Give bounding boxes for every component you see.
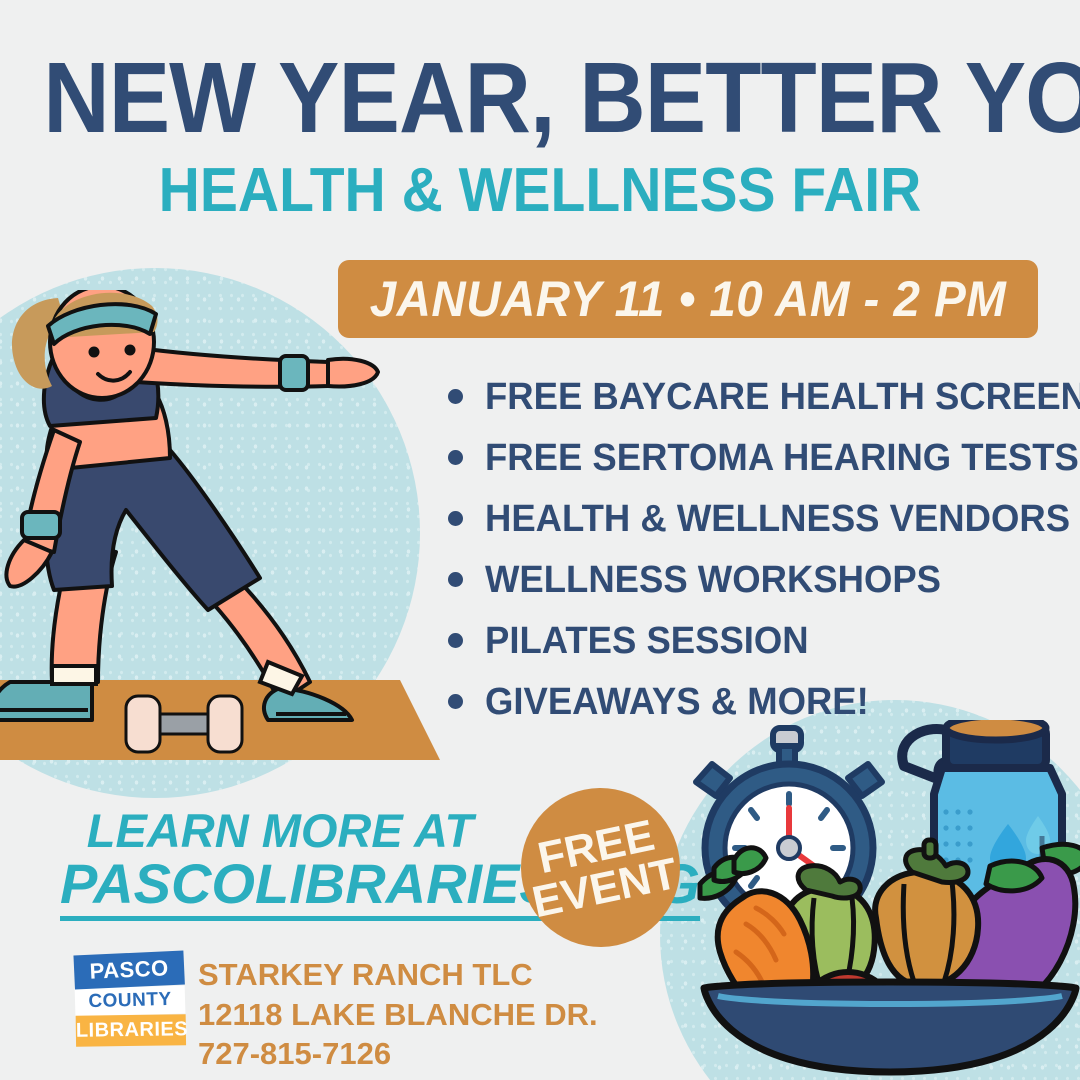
bullet-dot-icon <box>448 694 463 709</box>
list-item: PILATES SESSION <box>448 610 1068 671</box>
pasco-county-libraries-logo: PASCO COUNTY LIBRARIES <box>74 951 187 1047</box>
wristband-left <box>22 512 60 538</box>
list-item-label: FREE BAYCARE HEALTH SCREENINGS <box>485 378 1080 416</box>
venue-name: STARKEY RANCH TLC <box>198 955 598 995</box>
logo-line-pasco: PASCO <box>73 951 184 990</box>
date-time-banner: JANUARY 11 • 10 AM - 2 PM <box>338 260 1038 338</box>
list-item: FREE BAYCARE HEALTH SCREENINGS <box>448 366 1068 427</box>
orange-pepper-icon <box>875 840 978 986</box>
page-subtitle: HEALTH & WELLNESS FAIR <box>43 160 1037 222</box>
bullet-dot-icon <box>448 633 463 648</box>
shorts <box>45 450 260 610</box>
list-item: WELLNESS WORKSHOPS <box>448 549 1068 610</box>
bowl-icon <box>704 982 1076 1072</box>
page-title: NEW YEAR, BETTER YOU <box>43 48 1037 148</box>
learn-more-label: LEARN MORE AT <box>60 806 500 855</box>
list-item-label: GIVEAWAYS & MORE! <box>485 683 869 721</box>
shoe-left <box>0 682 92 720</box>
venue-info-block: STARKEY RANCH TLC 12118 LAKE BLANCHE DR.… <box>198 955 598 1074</box>
list-item: HEALTH & WELLNESS VENDORS <box>448 488 1068 549</box>
venue-address: 12118 LAKE BLANCHE DR. <box>198 995 598 1035</box>
list-item: GIVEAWAYS & MORE! <box>448 671 1068 732</box>
woman-exercising-illustration <box>0 290 450 790</box>
bullet-dot-icon <box>448 572 463 587</box>
learn-more-block: LEARN MORE AT PASCOLIBRARIES.ORG <box>60 806 500 921</box>
wristband-right <box>280 356 308 390</box>
logo-line-county: COUNTY <box>75 985 186 1016</box>
venue-phone[interactable]: 727-815-7126 <box>198 1034 598 1074</box>
list-item-label: FREE SERTOMA HEARING TESTS <box>485 439 1079 477</box>
date-time-text: JANUARY 11 • 10 AM - 2 PM <box>370 270 1007 328</box>
list-item-label: HEALTH & WELLNESS VENDORS <box>485 500 1070 538</box>
logo-line-libraries: LIBRARIES <box>76 1014 186 1047</box>
bullet-dot-icon <box>448 450 463 465</box>
list-item-label: WELLNESS WORKSHOPS <box>485 561 941 599</box>
event-features-list: FREE BAYCARE HEALTH SCREENINGS FREE SERT… <box>448 366 1068 732</box>
bullet-dot-icon <box>448 389 463 404</box>
healthy-food-illustration <box>690 720 1080 1080</box>
poster-canvas: NEW YEAR, BETTER YOU HEALTH & WELLNESS F… <box>0 0 1080 1080</box>
list-item-label: PILATES SESSION <box>485 622 809 660</box>
list-item: FREE SERTOMA HEARING TESTS <box>448 427 1068 488</box>
bullet-dot-icon <box>448 511 463 526</box>
